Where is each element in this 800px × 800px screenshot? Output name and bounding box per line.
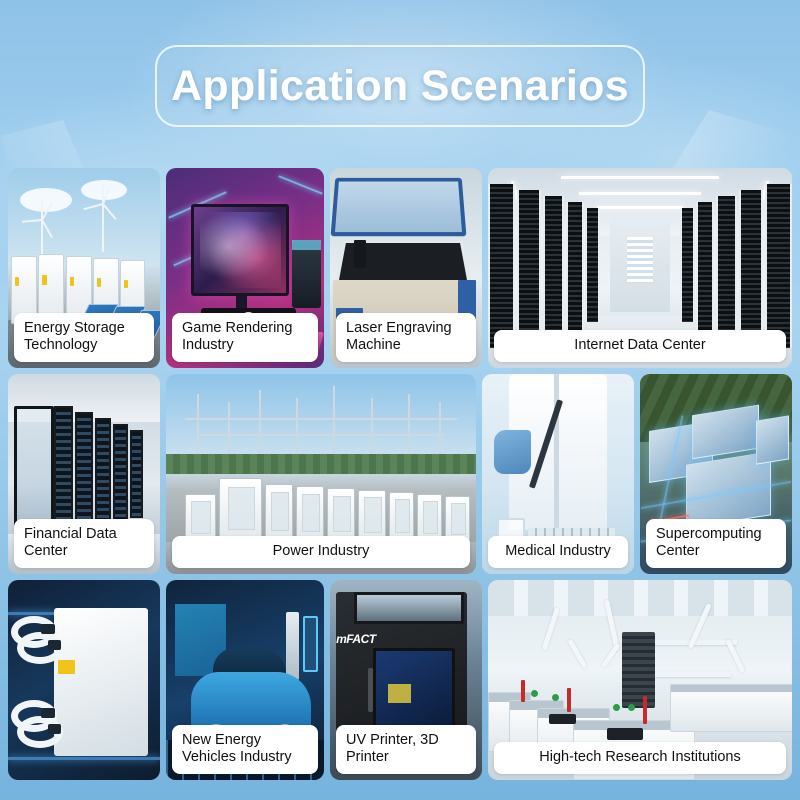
scenario-card-game-rendering-industry[interactable]: Game Rendering Industry [166,168,324,368]
scenario-label: UV Printer, 3D Printer [336,725,476,774]
scenario-card-internet-data-center[interactable]: Internet Data Center [488,168,792,368]
scenario-label: Laser Engraving Machine [336,313,476,362]
cooling-manifold-image [8,580,160,780]
scenario-label: Medical Industry [488,536,628,568]
scenario-grid: Energy Storage Technology Game Rendering… [8,168,792,780]
scenario-label: Power Industry [172,536,470,568]
scenario-card-medical-industry[interactable]: Medical Industry [482,374,634,574]
scenario-row-2: Financial Data Center [8,374,792,574]
page-title: Application Scenarios [171,62,629,111]
scenario-card-power-industry[interactable]: Power Industry [166,374,476,574]
scenario-label: Game Rendering Industry [172,313,318,362]
scenario-label: Energy Storage Technology [14,313,154,362]
scenario-row-3: New Energy Vehicles Industry mFACT C2P U… [8,580,792,780]
scenario-card-laser-engraving-machine[interactable]: Laser Engraving Machine [330,168,482,368]
scenario-label: Financial Data Center [14,519,154,568]
printer-brand-label: mFACT [336,632,376,646]
scenario-card-new-energy-vehicles-industry[interactable]: New Energy Vehicles Industry [166,580,324,780]
scenario-card-uv-printer-3d-printer[interactable]: mFACT C2P UV Printer, 3D Printer [330,580,482,780]
scenario-card-supercomputing-center[interactable]: Supercomputing Center [640,374,792,574]
scenario-label: High-tech Research Institutions [494,742,786,774]
scenario-card-cooling-manifold[interactable] [8,580,160,780]
scenario-card-energy-storage-technology[interactable]: Energy Storage Technology [8,168,160,368]
scenario-card-high-tech-research-institutions[interactable]: High-tech Research Institutions [488,580,792,780]
scenario-row-1: Energy Storage Technology Game Rendering… [8,168,792,368]
scenario-label: Internet Data Center [494,330,786,362]
page-title-frame: Application Scenarios [155,45,645,127]
scenario-card-financial-data-center[interactable]: Financial Data Center [8,374,160,574]
scenario-label: New Energy Vehicles Industry [172,725,318,774]
scenario-label: Supercomputing Center [646,519,786,568]
